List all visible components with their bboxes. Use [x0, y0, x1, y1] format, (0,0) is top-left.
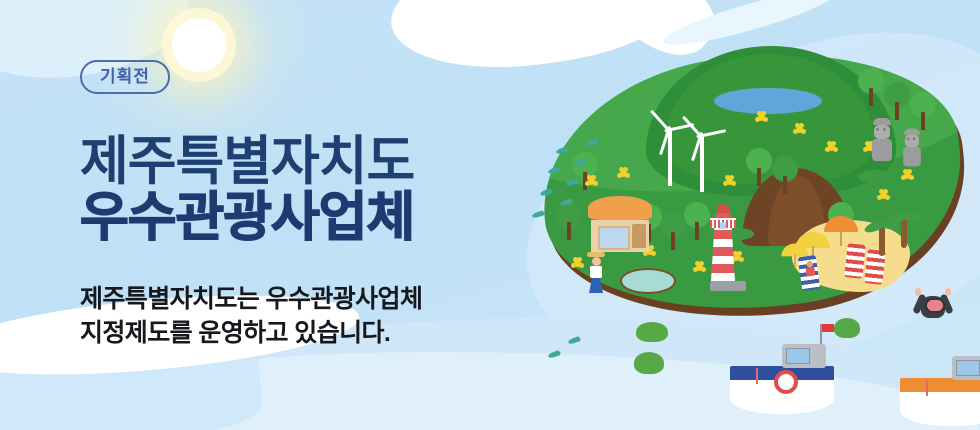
bush — [858, 170, 890, 183]
pond — [620, 268, 676, 294]
canola-flower — [880, 192, 887, 199]
canola-flower — [620, 170, 627, 177]
tree-icon — [556, 202, 582, 228]
canola-flower — [726, 178, 733, 185]
description-line-1: 제주특별자치도는 우수관광사업체 — [80, 282, 510, 316]
jeju-island-illustration — [528, 52, 980, 342]
banner-description: 제주특별자치도는 우수관광사업체 지정제도를 운영하고 있습니다. — [80, 282, 510, 350]
sunbather-figure — [803, 260, 817, 277]
palm-tree-icon — [878, 226, 886, 256]
page-title: 제주특별자치도 우수관광사업체 — [80, 134, 510, 246]
islet — [636, 322, 668, 342]
traditional-thatched-house-icon — [588, 196, 652, 252]
beach-umbrella-icon — [781, 244, 808, 257]
haenyeo-diver-icon — [916, 296, 950, 318]
canola-flower — [904, 172, 911, 179]
islet — [634, 352, 664, 374]
heading-line-2: 우수관광사업체 — [80, 190, 510, 246]
canola-flower — [588, 178, 595, 185]
banner-text-column: 기획전 제주특별자치도 우수관광사업체 제주특별자치도는 우수관광사업체 지정제… — [80, 60, 510, 350]
heading-line-1: 제주특별자치도 — [80, 132, 414, 191]
wind-turbine-icon — [700, 136, 704, 192]
beach-umbrella-icon — [824, 216, 858, 232]
canola-flower — [696, 264, 703, 271]
tree-icon — [684, 202, 710, 228]
dol-hareubang-statue-icon — [872, 118, 892, 161]
tree-icon — [858, 68, 884, 94]
dol-hareubang-statue-icon — [903, 129, 921, 167]
fishing-boat-blue — [730, 366, 834, 414]
palm-tree-icon — [900, 218, 908, 248]
promo-badge: 기획전 — [80, 60, 170, 94]
wind-turbine-icon — [668, 130, 672, 186]
tree-icon — [884, 82, 910, 108]
canola-flower — [796, 126, 803, 133]
tree-icon — [746, 148, 772, 174]
tree-icon — [660, 212, 686, 238]
crater-lake-icon — [714, 88, 822, 114]
islet — [834, 318, 860, 338]
tree-icon — [910, 92, 936, 118]
beach-towel — [844, 243, 865, 279]
person-figure — [588, 252, 604, 293]
jeju-promo-banner: 기획전 제주특별자치도 우수관광사업체 제주특별자치도는 우수관광사업체 지정제… — [0, 0, 980, 430]
fishing-boat-orange — [900, 378, 980, 426]
canola-flower — [758, 114, 765, 121]
description-line-2: 지정제도를 운영하고 있습니다. — [80, 316, 510, 350]
canola-flower — [828, 144, 835, 151]
canola-flower — [574, 260, 581, 267]
tree-icon — [772, 156, 798, 182]
lighthouse-icon — [710, 204, 736, 291]
